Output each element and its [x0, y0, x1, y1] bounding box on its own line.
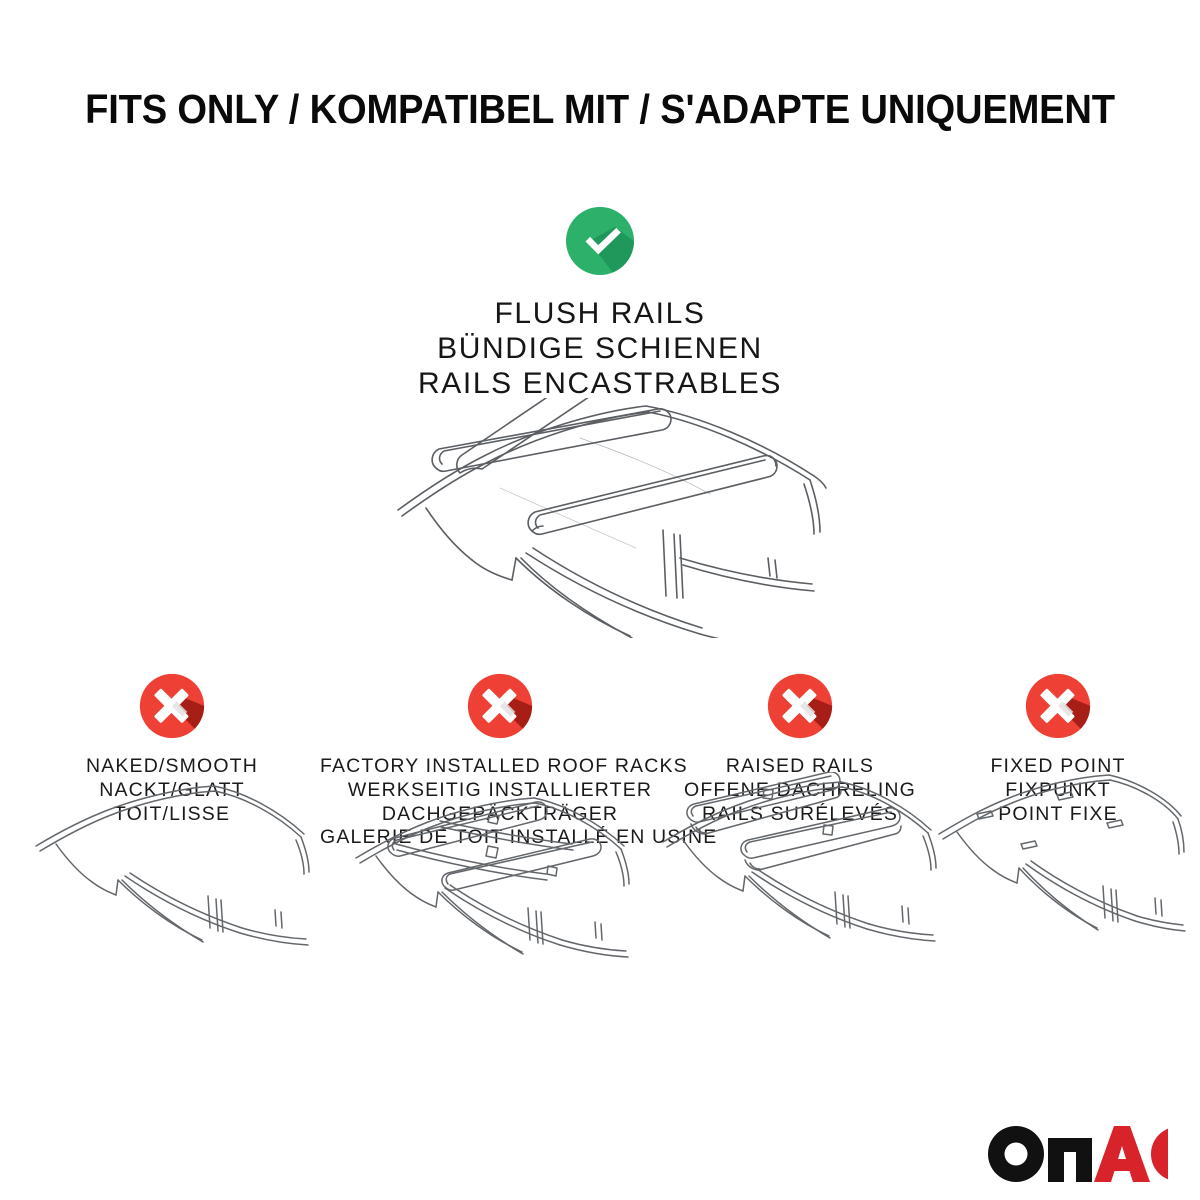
badge-wrap: [660, 672, 940, 752]
car-roof-naked-smooth-illustration: [22, 778, 322, 968]
badge-wrap: [320, 672, 680, 752]
incompatible-item-fixed-point: FIXED POINT FIXPUNKT POINT FIXE: [945, 672, 1171, 826]
logo-letter-a: [1094, 1126, 1150, 1182]
label-en: NAKED/SMOOTH: [22, 755, 322, 779]
compatible-line-fr: RAILS ENCASTRABLES: [0, 366, 1200, 401]
car-roof-factory-rack-illustration: [340, 794, 660, 984]
incompatible-item-naked-smooth: NAKED/SMOOTH NACKT/GLATT TOIT/LISSE: [22, 672, 322, 826]
car-roof-raised-rails-illustration: [645, 772, 955, 972]
label-en: FACTORY INSTALLED ROOF RACKS: [320, 755, 680, 779]
omac-logo: [988, 1126, 1168, 1182]
car-roof-with-flush-rails-illustration: [380, 398, 830, 638]
compatible-section: FLUSH RAILS BÜNDIGE SCHIENEN RAILS ENCAS…: [0, 205, 1200, 401]
logo-letter-c: [1151, 1126, 1168, 1182]
green-check-circle-icon: [564, 205, 636, 277]
badge-wrap: [22, 672, 322, 752]
red-cross-circle-icon: [1024, 672, 1092, 740]
badge-wrap: [945, 672, 1171, 752]
incompatible-section: NAKED/SMOOTH NACKT/GLATT TOIT/LISSE: [0, 672, 1200, 1192]
compatible-line-de: BÜNDIGE SCHIENEN: [0, 331, 1200, 366]
fitment-infographic: FITS ONLY / KOMPATIBEL MIT / S'ADAPTE UN…: [0, 0, 1200, 1200]
logo-letter-m: [1048, 1138, 1092, 1182]
red-cross-circle-icon: [466, 672, 534, 740]
red-cross-circle-icon: [138, 672, 206, 740]
incompatible-item-factory-installed-roof-racks: FACTORY INSTALLED ROOF RACKS WERKSEITIG …: [320, 672, 680, 850]
car-roof-fixed-point-illustration: [929, 772, 1187, 967]
incompatible-item-raised-rails: RAISED RAILS OFFENE DACHRELING RAILS SUR…: [660, 672, 940, 826]
logo-letter-o: [988, 1126, 1044, 1182]
compatible-labels: FLUSH RAILS BÜNDIGE SCHIENEN RAILS ENCAS…: [0, 296, 1200, 401]
red-cross-circle-icon: [766, 672, 834, 740]
compatible-line-en: FLUSH RAILS: [0, 296, 1200, 331]
page-title: FITS ONLY / KOMPATIBEL MIT / S'ADAPTE UN…: [42, 86, 1158, 133]
